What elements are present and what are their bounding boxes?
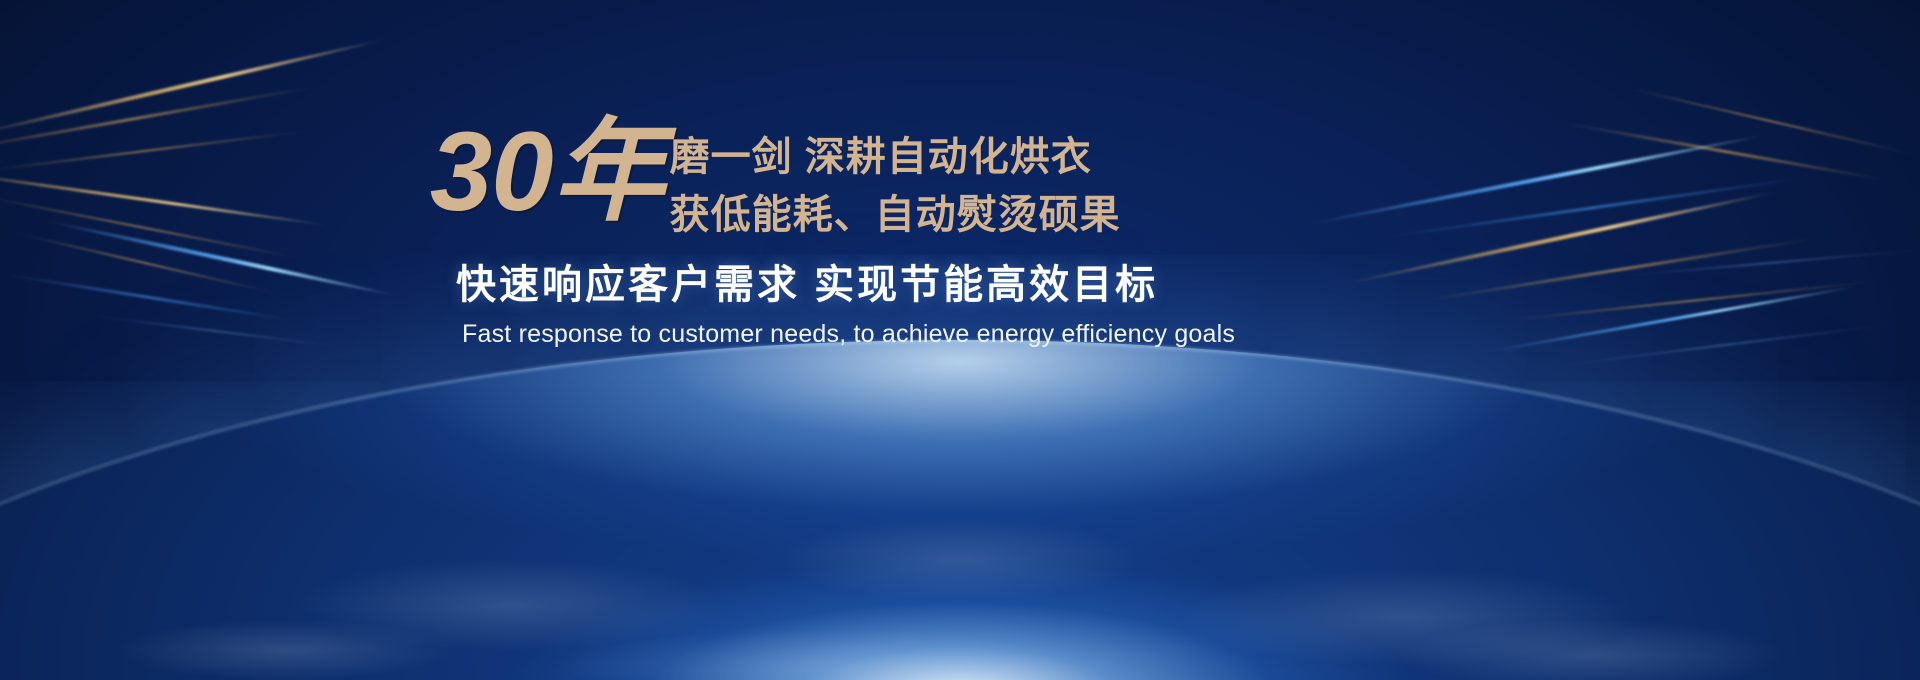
- gold-slogan-lines: 磨一剑 深耕自动化烘衣 获低能耗、自动熨烫硕果: [670, 120, 1121, 244]
- years-number: 30年: [430, 120, 664, 224]
- promo-banner: 30年 磨一剑 深耕自动化烘衣 获低能耗、自动熨烫硕果 快速响应客户需求 实现节…: [0, 0, 1920, 680]
- gold-slogan-line-1: 磨一剑 深耕自动化烘衣: [670, 128, 1121, 186]
- headline-block: 30年 磨一剑 深耕自动化烘衣 获低能耗、自动熨烫硕果: [430, 120, 1121, 244]
- slogan-english: Fast response to customer needs, to achi…: [462, 320, 1235, 349]
- slogan-chinese: 快速响应客户需求 实现节能高效目标: [456, 252, 1158, 310]
- banner-content: 30年 磨一剑 深耕自动化烘衣 获低能耗、自动熨烫硕果 快速响应客户需求 实现节…: [0, 0, 1920, 680]
- gold-slogan-line-2: 获低能耗、自动熨烫硕果: [670, 186, 1121, 244]
